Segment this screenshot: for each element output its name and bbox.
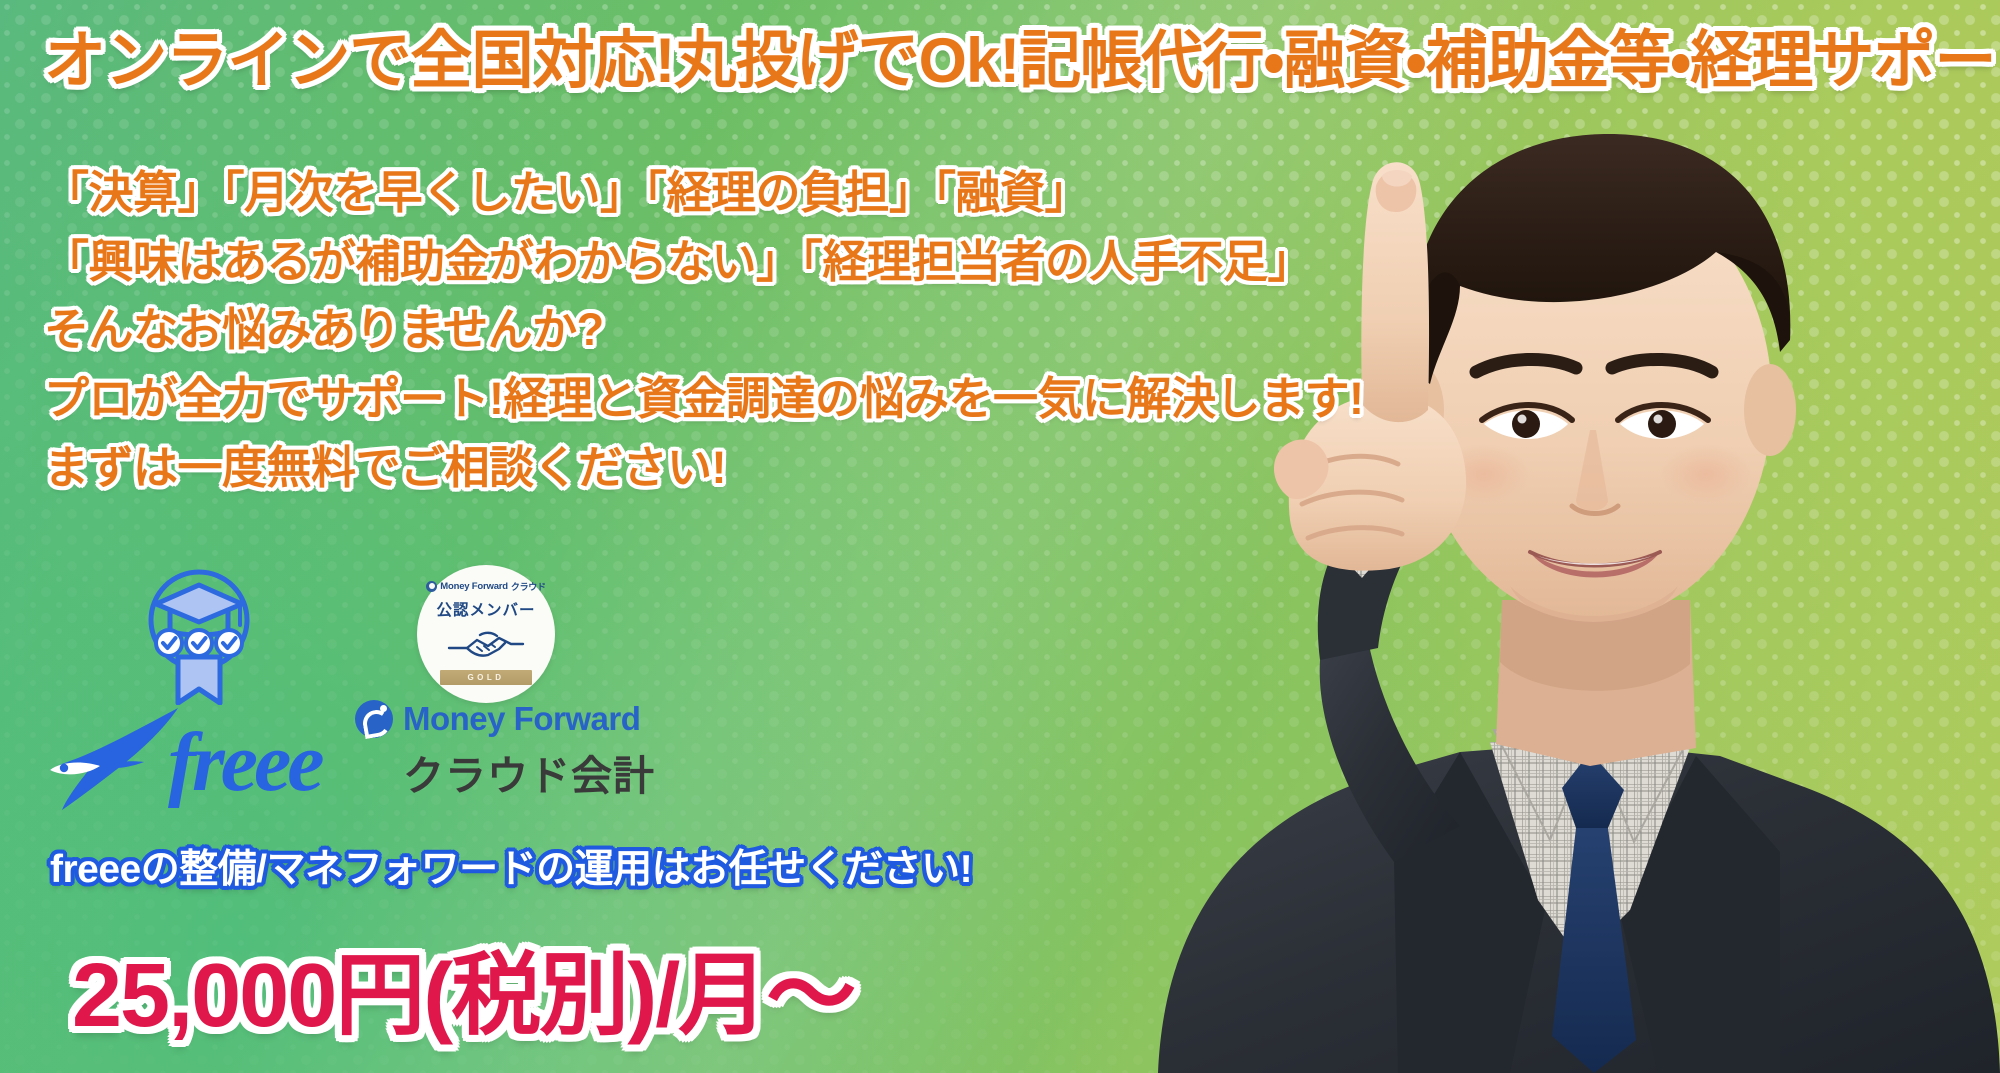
page-title: オンラインで全国対応!丸投げでOk!記帳代行・融資・補助金等・経理サポート! bbox=[44, 28, 1945, 94]
money-forward-cloud-accounting-logo: Money Forward クラウド会計 bbox=[355, 700, 655, 830]
money-forward-sub-wordmark: クラウド会計 bbox=[403, 742, 655, 802]
promo-banner: オンラインで全国対応!丸投げでOk!記帳代行・融資・補助金等・経理サポート! 「… bbox=[0, 0, 2000, 1073]
mf-logo-row: Money Forward bbox=[355, 700, 655, 738]
body-line-1: 「決算」「月次を早くしたい」「経理の負担」「融資」 bbox=[44, 165, 1344, 222]
body-line-4: プロが全力でサポート!経理と資金調達の悩みを一気に解決します! bbox=[44, 371, 1344, 428]
body-line-2: 「興味はあるが補助金がわからない」「経理担当者の人手不足」 bbox=[44, 234, 1344, 291]
money-forward-mark-icon bbox=[426, 581, 437, 592]
body-copy: 「決算」「月次を早くしたい」「経理の負担」「融資」 「興味はあるが補助金がわから… bbox=[44, 165, 1344, 508]
handshake-icon bbox=[447, 627, 525, 661]
swallow-bird-icon bbox=[48, 700, 183, 812]
service-tagline: freeeの整備/マネフォワードの運用はお任せください! bbox=[50, 838, 972, 894]
mf-badge-brand: Money Forward bbox=[440, 581, 508, 592]
freee-wordmark: freee bbox=[168, 714, 321, 811]
mf-badge-title: 公認メンバー bbox=[436, 598, 535, 620]
mf-badge-brandline: Money Forward クラウド bbox=[426, 580, 545, 593]
money-forward-mark-icon bbox=[355, 700, 393, 738]
background-dot-pattern bbox=[0, 0, 2000, 1073]
mf-badge-tier-label: GOLD bbox=[467, 673, 504, 682]
freee-logo: freee bbox=[48, 700, 318, 820]
certification-badge-icon bbox=[140, 565, 258, 705]
mf-badge-cloud-label: クラウド bbox=[511, 580, 546, 593]
money-forward-certified-member-badge: Money Forward クラウド 公認メンバー GOLD bbox=[417, 565, 555, 703]
money-forward-wordmark: Money Forward bbox=[403, 700, 640, 738]
badge-row: Money Forward クラウド 公認メンバー GOLD bbox=[140, 565, 580, 685]
body-line-3: そんなお悩みありませんか? bbox=[44, 302, 1344, 359]
price-label: 25,000円(税別)/月〜 bbox=[72, 922, 854, 1052]
body-line-5: まずは一度無料でご相談ください! bbox=[44, 440, 1344, 497]
mf-badge-tier-bar: GOLD bbox=[440, 670, 532, 685]
